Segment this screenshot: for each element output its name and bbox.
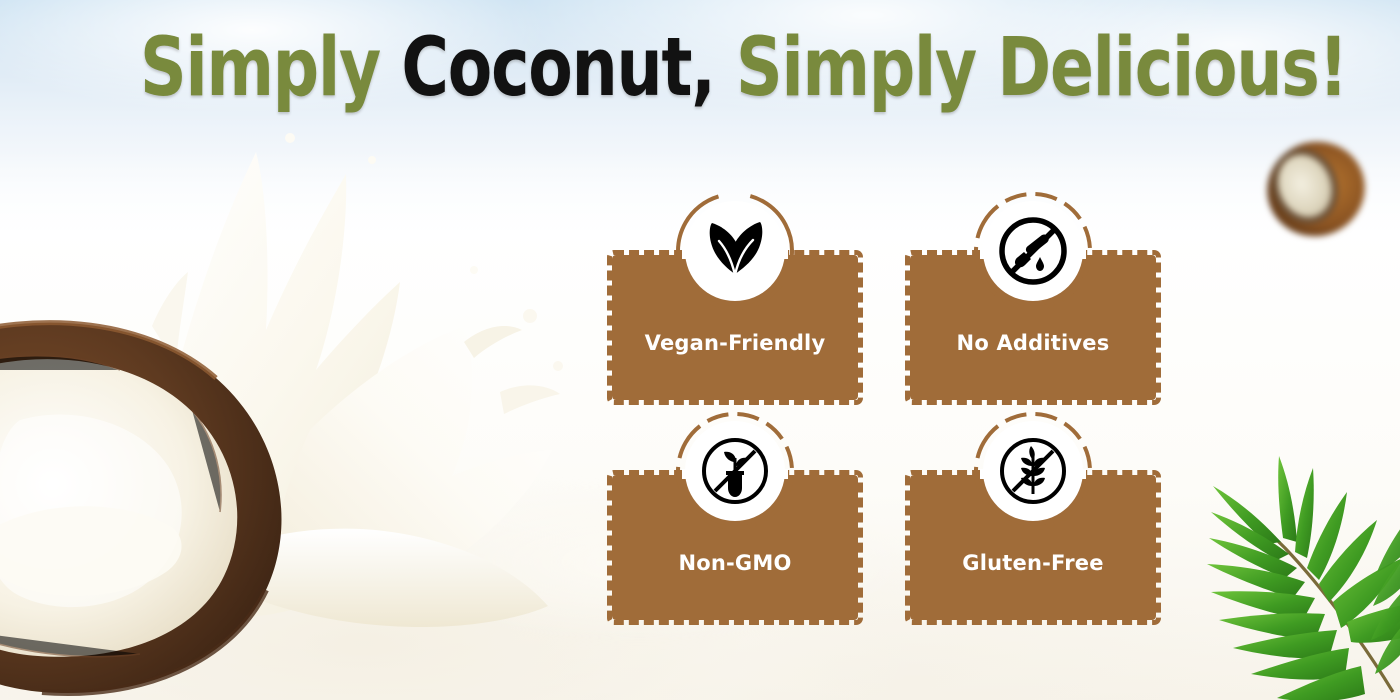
- feature-card-non-gmo[interactable]: Non-GMO: [612, 410, 858, 630]
- two-leaves-icon: [696, 212, 774, 290]
- no-dropper-icon: [994, 212, 1072, 290]
- no-wheat-icon: [994, 432, 1072, 510]
- feature-badge: [972, 190, 1094, 312]
- headline-part-1: Simply: [140, 21, 401, 115]
- headline-part-3: Simply Delicious!: [736, 21, 1347, 115]
- coconut-bokeh-image: [1255, 133, 1373, 245]
- coconut-half-image: [0, 300, 540, 700]
- palm-leaves-image: [1185, 420, 1400, 700]
- headline-part-2: Coconut,: [401, 21, 736, 115]
- feature-badge: [972, 410, 1094, 532]
- feature-label: Non-GMO: [612, 551, 858, 575]
- feature-badge: [674, 190, 796, 312]
- feature-label: Gluten-Free: [910, 551, 1156, 575]
- feature-card-no-additives[interactable]: No Additives: [910, 190, 1156, 410]
- no-gmo-test-tube-plant-icon: [696, 432, 774, 510]
- feature-label: Vegan-Friendly: [612, 331, 858, 355]
- coconut-promo-banner: Simply Coconut, Simply Delicious! Vegan-…: [0, 0, 1400, 700]
- feature-card-gluten-free[interactable]: Gluten-Free: [910, 410, 1156, 630]
- feature-card-vegan-friendly[interactable]: Vegan-Friendly: [612, 190, 858, 410]
- feature-grid: Vegan-Friendly No Additives: [612, 190, 1148, 630]
- page-title: Simply Coconut, Simply Delicious!: [140, 28, 1260, 109]
- feature-badge: [674, 410, 796, 532]
- feature-label: No Additives: [910, 331, 1156, 355]
